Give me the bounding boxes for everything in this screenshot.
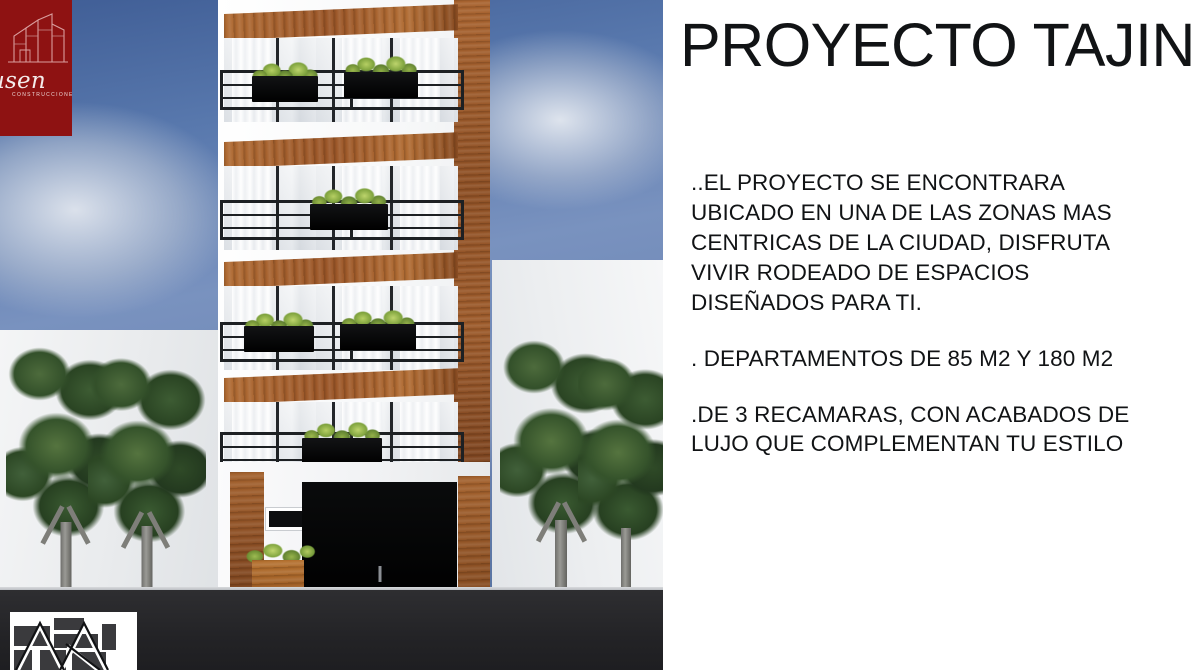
project-render-photo: usen CONSTRUCCIONES: [0, 0, 663, 670]
balcony-planter: [302, 438, 382, 464]
balcony-planter: [252, 76, 318, 102]
logo-subtitle: CONSTRUCCIONES: [12, 92, 72, 98]
floor-level-4: [218, 14, 490, 132]
garage-handle: [378, 566, 381, 582]
paragraph-unit-sizes: . DEPARTAMENTOS DE 85 M2 Y 180 M2: [691, 344, 1161, 374]
railing-post: [220, 322, 223, 362]
paragraph-features: .DE 3 RECAMARAS, CON ACABADOS DE LUJO QU…: [691, 400, 1161, 460]
street-tree: [88, 350, 206, 592]
secondary-logo-box: [10, 612, 137, 670]
tree-trunk: [555, 520, 567, 592]
tree-trunk: [142, 526, 153, 592]
balcony-planter: [344, 72, 418, 98]
balcony-planter: [340, 324, 416, 350]
paragraph-location: ..EL PROYECTO SE ENCONTRARA UBICADO EN U…: [691, 168, 1161, 318]
double-triangle-logo-icon: [10, 612, 137, 670]
wood-panel-right: [458, 476, 490, 600]
railing-post: [220, 70, 223, 110]
street-tree: [578, 350, 663, 592]
apartment-tower: [218, 0, 490, 600]
company-logo-badge: usen CONSTRUCCIONES: [0, 0, 72, 136]
ground-floor: [218, 462, 490, 600]
floor-level-3: [218, 142, 490, 260]
tree-crown: [578, 350, 663, 540]
building-outline-icon: [4, 10, 70, 68]
tree-trunk: [621, 528, 631, 592]
floor-level-2: [218, 262, 490, 380]
page-title: PROYECTO TAJIN: [680, 14, 1200, 76]
description-block: ..EL PROYECTO SE ENCONTRARA UBICADO EN U…: [691, 168, 1161, 459]
railing-post: [461, 322, 464, 362]
balcony-planter: [244, 326, 314, 352]
balcony-planter: [310, 204, 388, 230]
text-pane: PROYECTO TAJIN ..EL PROYECTO SE ENCONTRA…: [663, 0, 1200, 670]
wood-soffit: [224, 132, 458, 168]
railing-post: [276, 200, 279, 240]
garage-door: [302, 482, 457, 600]
tree-trunk: [61, 522, 72, 592]
wood-soffit: [224, 4, 458, 40]
railing-post: [220, 200, 223, 240]
railing-post: [461, 70, 464, 110]
railing-post: [461, 200, 464, 240]
logo-script-text: usen: [0, 70, 72, 93]
